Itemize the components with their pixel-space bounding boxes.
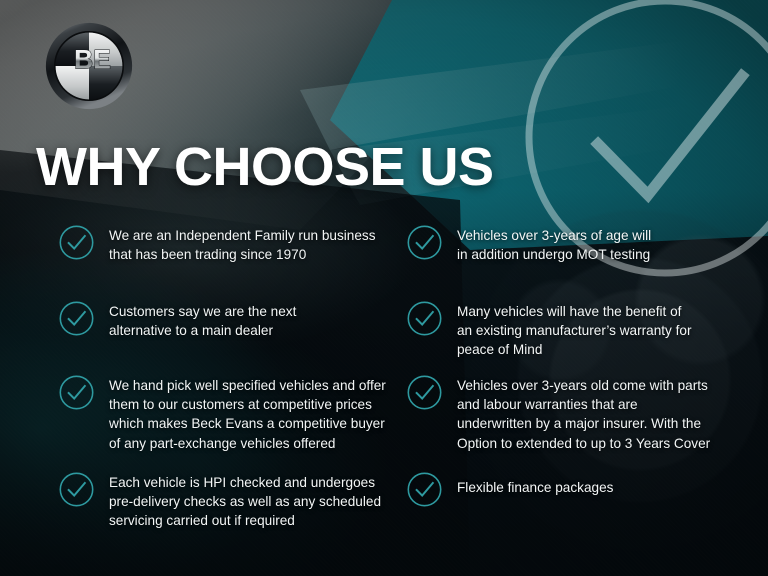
benefit-item: Each vehicle is HPI checked and undergoe… [58,469,398,531]
check-circle-icon [406,471,443,508]
benefit-item: Vehicles over 3-years of age will in add… [406,222,746,264]
benefit-text: We are an Independent Family run busines… [109,222,376,264]
page-title: WHY CHOOSE US [36,140,494,194]
benefit-text: We hand pick well specified vehicles and… [109,372,386,453]
benefit-text: Many vehicles will have the benefit of a… [457,298,691,360]
check-circle-icon [58,224,95,261]
benefit-item: Vehicles over 3-years old come with part… [406,372,746,453]
benefit-item: We hand pick well specified vehicles and… [58,372,398,453]
benefit-text: Vehicles over 3-years old come with part… [457,372,710,453]
check-circle-icon [58,300,95,337]
benefit-item: We are an Independent Family run busines… [58,222,398,264]
benefit-item: Flexible finance packages [406,469,746,508]
check-circle-icon [58,471,95,508]
logo-letters: BE [74,45,111,75]
benefit-item: Many vehicles will have the benefit of a… [406,298,746,360]
benefit-text: Customers say we are the next alternativ… [109,298,296,340]
brand-logo-be: BE [45,22,133,110]
benefit-text: Flexible finance packages [457,469,613,497]
check-circle-icon [406,224,443,261]
benefit-text: Each vehicle is HPI checked and undergoe… [109,469,381,531]
benefit-text: Vehicles over 3-years of age will in add… [457,222,651,264]
benefit-item: Customers say we are the next alternativ… [58,298,398,340]
slide-canvas: BE WHY CHOOSE US We are an Independent F… [0,0,768,576]
check-circle-icon [406,374,443,411]
check-circle-icon [58,374,95,411]
check-circle-icon [406,300,443,337]
